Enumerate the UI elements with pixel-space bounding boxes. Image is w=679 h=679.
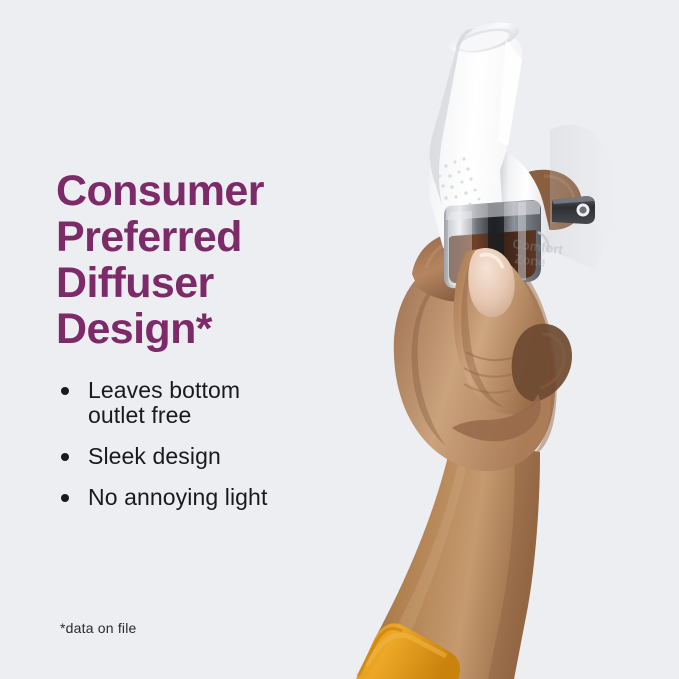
list-item: Leaves bottom outlet free [56,378,346,428]
bullet-dot-icon [61,387,69,395]
copy-block: Consumer Preferred Diffuser Design* Leav… [56,168,356,510]
bullet-dot-icon [61,453,69,461]
list-item-label: Sleek design [88,443,221,469]
list-item-label: No annoying light [88,484,267,510]
list-item-label: Leaves bottom outlet free [88,377,240,428]
footnote: *data on file [60,620,137,636]
bullet-dot-icon [61,494,69,502]
list-item: Sleek design [56,444,346,469]
benefits-list: Leaves bottom outlet free Sleek design N… [56,378,346,510]
plug-prong [552,196,595,224]
marketing-image: Comfort Zone [0,0,679,679]
page-title: Consumer Preferred Diffuser Design* [56,168,356,352]
product-photo: Comfort Zone [300,0,679,679]
list-item: No annoying light [56,485,346,510]
